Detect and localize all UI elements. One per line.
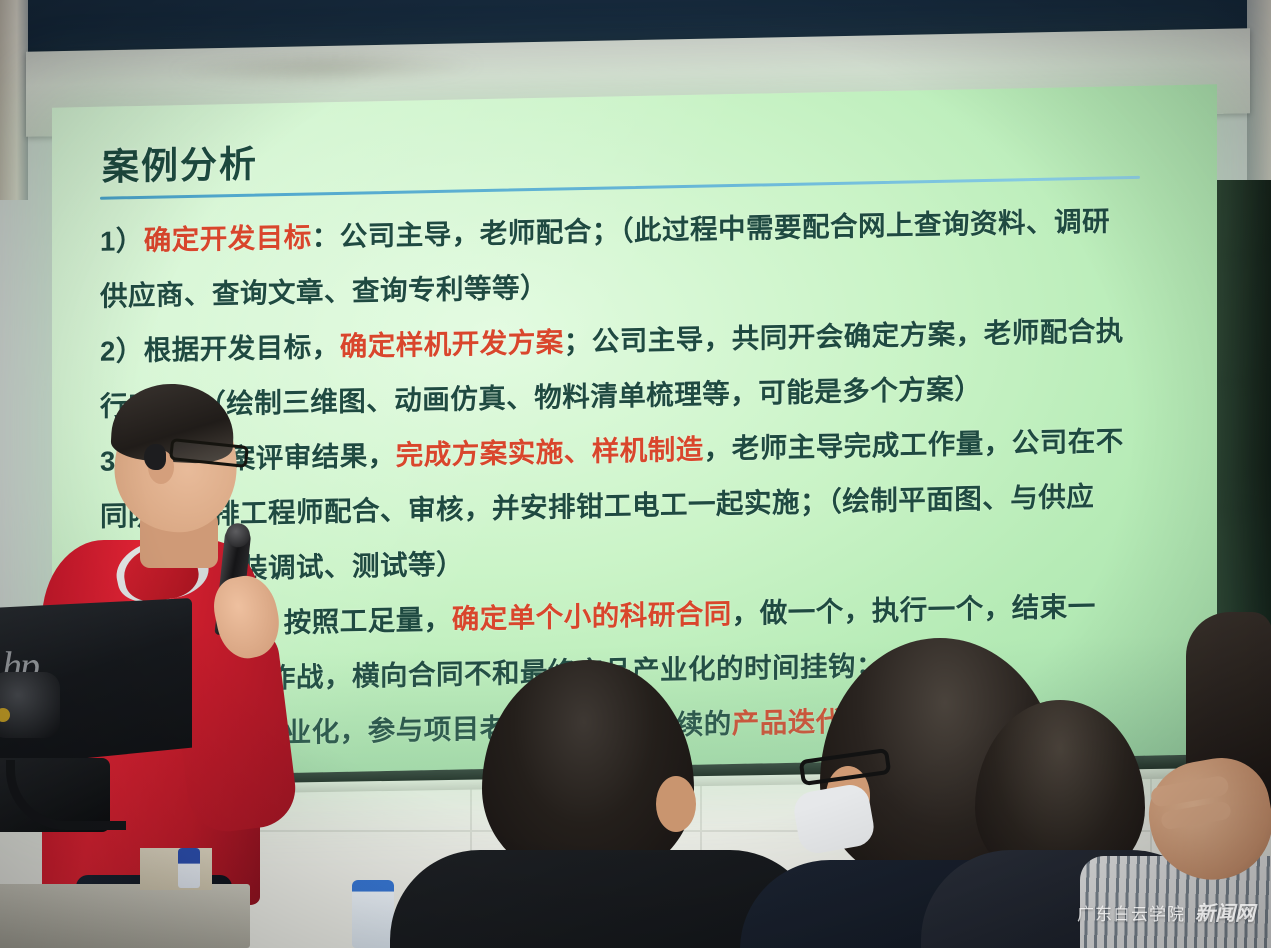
slide-text: ，做一个，执行一个，结束一 — [732, 591, 1096, 629]
slide-text: ；公司主导，共同开会确定方案，老师配合执 — [564, 315, 1124, 357]
microphone-head — [225, 522, 251, 548]
small-bottle — [178, 848, 200, 888]
slide-highlight-text: 确定开发目标 — [144, 221, 312, 255]
camera-device — [0, 672, 60, 738]
earpiece-icon — [144, 444, 166, 470]
left-wall-edge — [0, 0, 28, 200]
slide-text: 供应商、查询文章、查询专利等等） — [100, 272, 548, 312]
camera-indicator — [0, 708, 10, 722]
slide-text: 2）根据开发目标， — [100, 331, 340, 367]
podium-desk — [0, 884, 250, 948]
slide-highlight-text: 确定样机开发方案 — [340, 326, 564, 361]
lecture-photo: 案例分析 1）确定开发目标：公司主导，老师配合；（此过程中需要配合网上查询资料、… — [0, 0, 1271, 948]
paper-box — [140, 848, 212, 890]
slide-highlight-text: 确定单个小的科研合同 — [452, 598, 732, 635]
slide-text: 1） — [100, 225, 144, 257]
audience-member — [420, 660, 750, 948]
audience-head — [482, 660, 694, 882]
slide-text: ，老师主导完成工作量，公司在不 — [704, 425, 1124, 464]
water-bottle — [352, 880, 394, 948]
slide-text: ：公司主导，老师配合；（此过程中需要配合网上查询资料、调研 — [312, 205, 1110, 252]
audience-ear — [656, 776, 696, 832]
right-wall-edge — [1247, 0, 1271, 210]
slide-highlight-text: 完成方案实施、样机制造 — [396, 434, 704, 471]
board-glare — [166, 47, 486, 89]
